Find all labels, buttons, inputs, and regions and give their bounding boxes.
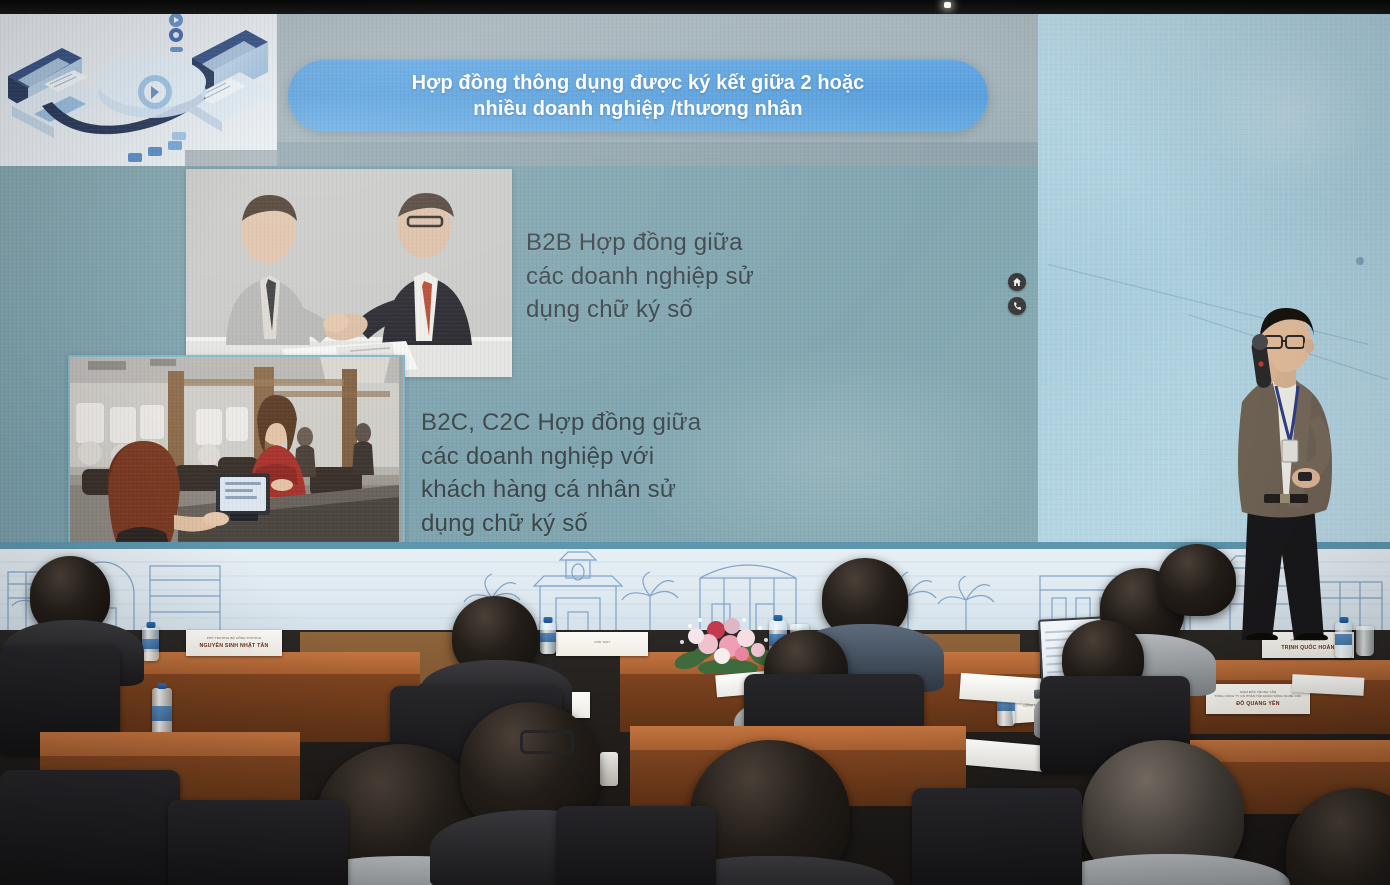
home-icon[interactable] (1008, 273, 1026, 291)
audience-chair (556, 806, 716, 885)
slide-title-banner: Hợp đồng thông dụng được ký kết giữa 2 h… (288, 60, 988, 132)
audience-chair (912, 788, 1082, 885)
presenter (1214, 306, 1374, 640)
b2c-description-text: B2C, C2C Hợp đồng giữa các doanh nghiệp … (421, 406, 821, 540)
name-placard: CHỦ TỊCH (556, 632, 648, 656)
isometric-devices-cloud-illustration (0, 14, 277, 166)
slide-title-text: Hợp đồng thông dụng được ký kết giữa 2 h… (386, 70, 891, 123)
paper-sheet (1292, 674, 1365, 696)
conference-photo: Hợp đồng thông dụng được ký kết giữa 2 h… (0, 0, 1390, 885)
slide-nav-buttons[interactable] (1008, 273, 1026, 315)
audience-desk-top (40, 732, 300, 756)
placard-role: CHỦ TỊCH (594, 641, 610, 645)
placard-role: PHÓ TRƯỞNG BỘ CÔNG THƯƠNG (207, 637, 261, 641)
ceiling-strip (0, 0, 1390, 14)
b2c-line2: các doanh nghiệp với (421, 440, 821, 474)
placard-name: TRỊNH QUỐC HOÀN (1281, 645, 1334, 651)
placard-role-2: TỔNG CÔNG TY CỔ PHẦN TẬP ĐOÀN SÔNG NGHỆ … (1214, 695, 1301, 699)
b2b-line3: dụng chữ ký số (526, 293, 906, 327)
slide-top-band-shadow (277, 142, 1038, 166)
b2b-handshake-photo (186, 169, 512, 377)
water-bottle (540, 622, 556, 654)
audience-chair (168, 800, 348, 885)
phone-icon[interactable] (1008, 297, 1026, 315)
water-bottle (142, 627, 159, 661)
placard-name: ĐỖ QUANG YÊN (1236, 701, 1280, 707)
b2c-line3: khách hàng cá nhân sử (421, 473, 821, 507)
b2b-line1: B2B Hợp đồng giữa (526, 226, 906, 260)
b2b-description-text: B2B Hợp đồng giữa các doanh nghiệp sử dụ… (526, 226, 906, 327)
audience-head (1158, 544, 1236, 616)
audience-chair (0, 770, 180, 885)
audience-desk-top (1190, 740, 1390, 762)
b2c-line4: dụng chữ ký số (421, 507, 821, 541)
slide-title-line1: Hợp đồng thông dụng được ký kết giữa 2 h… (412, 72, 865, 94)
projected-slide: Hợp đồng thông dụng được ký kết giữa 2 h… (0, 14, 1038, 542)
eyeglasses-icon (520, 730, 574, 754)
remote-control (600, 752, 618, 786)
name-placard: PHÓ TRƯỞNG BỘ CÔNG THƯƠNG NGUYỄN SINH NH… (186, 630, 282, 656)
slide-title-line2: nhiều doanh nghiệp /thương nhân (473, 98, 803, 120)
b2c-salon-counter-photo (68, 355, 405, 542)
b2c-line1: B2C, C2C Hợp đồng giữa (421, 406, 821, 440)
placard-name: NGUYỄN SINH NHẬT TÂN (200, 643, 269, 649)
ceiling-light (944, 2, 951, 8)
b2b-line2: các doanh nghiệp sử (526, 260, 906, 294)
